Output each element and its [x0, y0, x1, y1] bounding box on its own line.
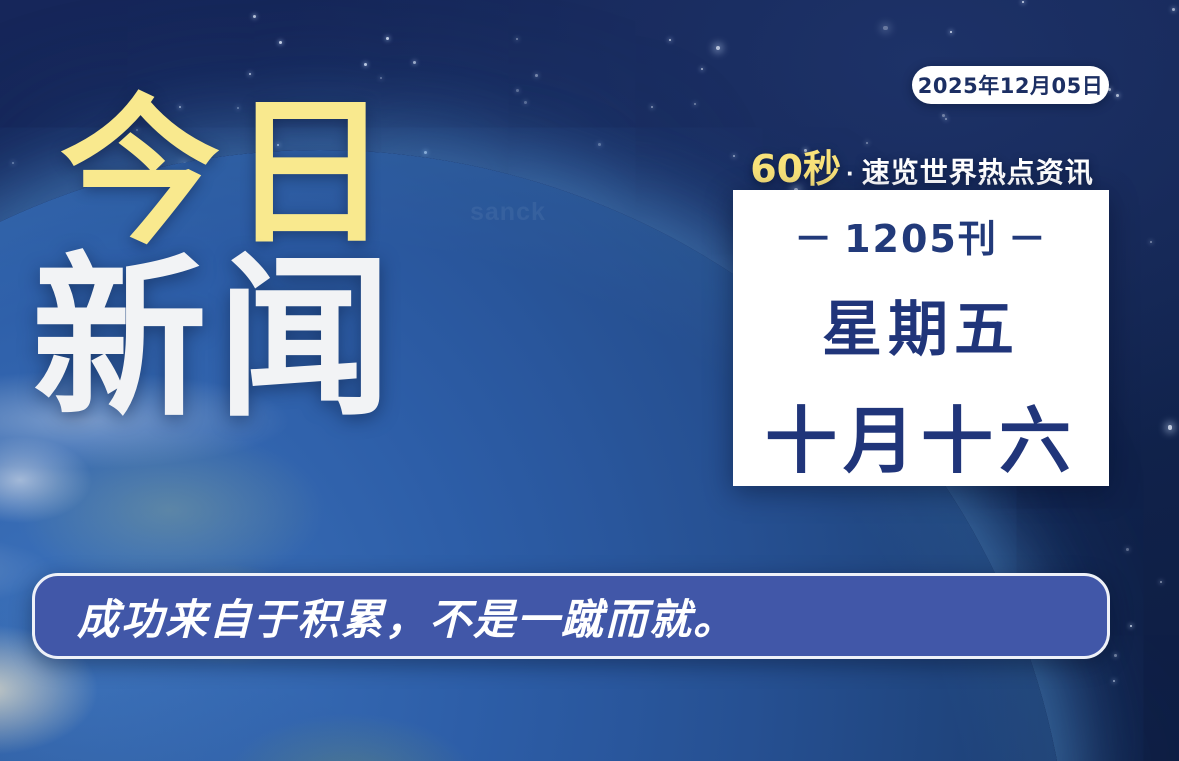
masthead-line-news: 新闻: [32, 256, 402, 424]
issue-number: 1205刊: [844, 217, 998, 261]
quote-banner: 成功来自于积累，不是一蹴而就。: [32, 573, 1110, 659]
weekday-label: 星期五: [822, 281, 1020, 368]
masthead: 今日 新闻: [60, 96, 402, 424]
tagline: 60秒 · 速览世界热点资讯: [735, 138, 1109, 193]
issue-dash-right: －: [998, 217, 1058, 261]
date-badge: 2025年12月05日: [912, 66, 1109, 104]
tagline-text: 速览世界热点资讯: [862, 151, 1094, 191]
date-info-card: －1205刊－ 星期五 十月十六: [733, 190, 1109, 486]
masthead-line-today: 今日: [60, 96, 402, 250]
watermark-text: sanck: [470, 198, 546, 227]
quote-text: 成功来自于积累，不是一蹴而就。: [77, 586, 737, 647]
poster-canvas: sanck 今日 新闻 2025年12月05日 60秒 · 速览世界热点资讯 －…: [0, 0, 1179, 761]
date-badge-label: 2025年12月05日: [918, 70, 1103, 100]
issue-dash-left: －: [784, 217, 844, 261]
tagline-separator-dot: ·: [846, 158, 855, 189]
lunar-date-label: 十月十六: [765, 382, 1077, 486]
issue-number-row: －1205刊－: [784, 208, 1058, 263]
tagline-seconds: 60秒: [750, 138, 841, 193]
